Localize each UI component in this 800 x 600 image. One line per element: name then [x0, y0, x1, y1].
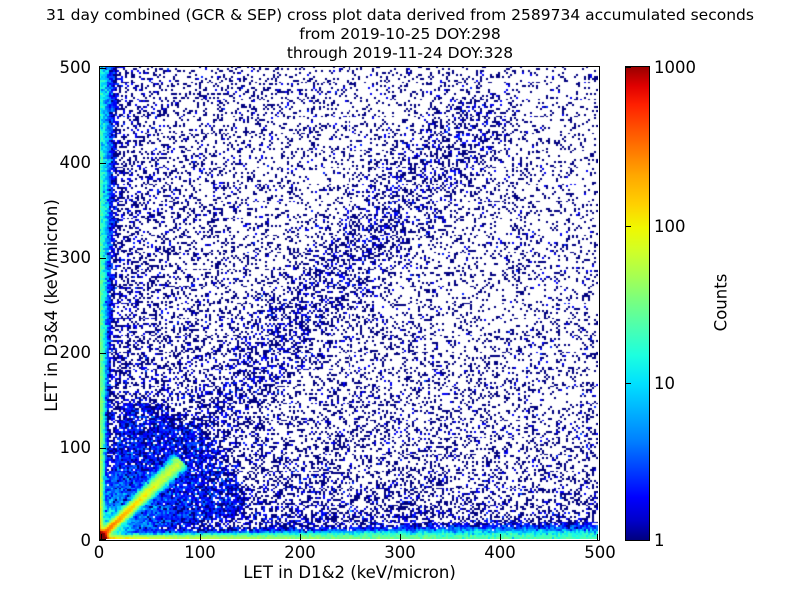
figure-canvas: 31 day combined (GCR & SEP) cross plot d…	[0, 0, 800, 600]
colorbar-tick-100	[625, 226, 631, 227]
x-axis-tick-label-200: 200	[265, 545, 335, 562]
scatter-density-canvas	[100, 67, 598, 539]
x-axis-tick-label-400: 400	[465, 545, 535, 562]
x-axis-title: LET in D1&2 (keV/micron)	[99, 563, 600, 582]
x-tick-0	[101, 534, 102, 540]
chart-title-line-2: from 2019-10-25 DOY:298	[0, 25, 800, 44]
y-axis-tick-label-300: 300	[31, 250, 91, 267]
y-axis-tick-label-200: 200	[31, 345, 91, 362]
y-tick-400	[100, 163, 106, 164]
y-tick-200	[100, 353, 106, 354]
x-tick-200	[300, 534, 301, 540]
colorbar	[625, 66, 650, 541]
colorbar-tick-label-1: 1	[654, 533, 665, 550]
colorbar-tick-label-100: 100	[654, 219, 686, 236]
y-axis-tick-label-100: 100	[31, 440, 91, 457]
chart-title: 31 day combined (GCR & SEP) cross plot d…	[0, 6, 800, 63]
x-tick-300	[400, 534, 401, 540]
chart-title-line-1: 31 day combined (GCR & SEP) cross plot d…	[0, 6, 800, 25]
x-axis-tick-label-500: 500	[565, 545, 635, 562]
y-tick-300	[100, 258, 106, 259]
y-tick-100	[100, 448, 106, 449]
y-tick-500	[100, 68, 106, 69]
x-axis-tick-label-300: 300	[365, 545, 435, 562]
x-tick-500	[597, 534, 598, 540]
y-axis-tick-label-500: 500	[31, 60, 91, 77]
plot-area	[99, 66, 600, 541]
colorbar-tick-10	[625, 383, 631, 384]
colorbar-tick-label-10: 10	[654, 376, 675, 393]
x-axis-tick-label-0: 0	[64, 545, 134, 562]
colorbar-tick-1	[625, 540, 631, 541]
colorbar-title: Counts	[712, 193, 731, 413]
y-axis-title: LET in D3&4 (keV/micron)	[42, 68, 61, 543]
x-tick-400	[500, 534, 501, 540]
colorbar-tick-label-1000: 1000	[654, 60, 696, 77]
x-axis-tick-label-100: 100	[165, 545, 235, 562]
y-axis-tick-label-400: 400	[31, 155, 91, 172]
x-tick-100	[200, 534, 201, 540]
colorbar-tick-1000	[625, 67, 631, 68]
